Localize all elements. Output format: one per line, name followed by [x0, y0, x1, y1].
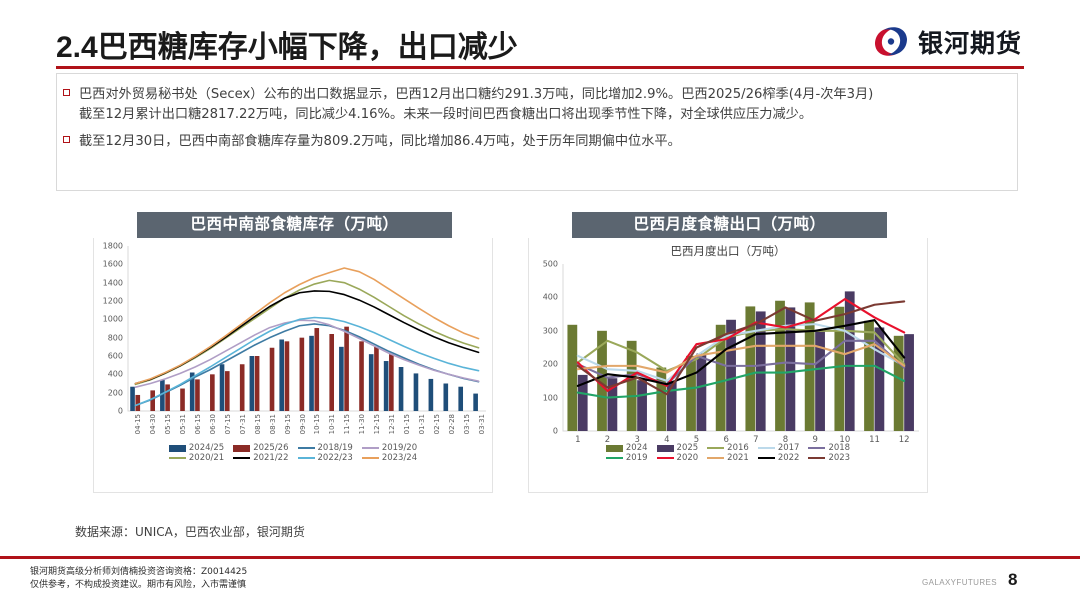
header-divider [56, 66, 1024, 69]
right-chart-legend: 2024202520162017201820192020202120222023 [529, 443, 927, 463]
bar-2025/26 [255, 356, 260, 411]
legend-item-2024[interactable]: 2024 [606, 443, 648, 453]
legend-label: 2020/21 [189, 453, 224, 463]
y-axis-tick-label: 1800 [94, 242, 123, 251]
footer-divider [0, 556, 1080, 559]
bar-2025/26 [344, 327, 349, 411]
legend-label: 2019/20 [382, 443, 417, 453]
legend-item-2020-21[interactable]: 2020/21 [169, 453, 224, 463]
bar-2024 [864, 321, 874, 431]
x-axis-tick-label: 07-15 [224, 414, 232, 434]
bullet-item: 巴西对外贸易秘书处（Secex）公布的出口数据显示，巴西12月出口糖约291.3… [57, 85, 1017, 125]
legend-swatch [758, 457, 775, 460]
bar-2024/25 [250, 356, 255, 411]
y-axis-tick-label: 100 [529, 393, 558, 402]
legend-swatch [233, 445, 250, 452]
bar-2025/26 [359, 341, 364, 411]
legend-swatch [808, 447, 825, 450]
legend-label: 2023 [828, 453, 850, 463]
left-chart-caption: 巴西中南部食糖库存（万吨） [137, 212, 452, 238]
bar-2024 [627, 341, 637, 431]
legend-item-2022[interactable]: 2022 [758, 453, 800, 463]
y-axis-tick-label: 500 [529, 260, 558, 269]
bar-2025/26 [270, 348, 275, 411]
legend-label: 2024/25 [189, 443, 224, 453]
x-axis-tick-label: 03-15 [463, 414, 471, 434]
y-axis-tick-label: 400 [529, 293, 558, 302]
legend-swatch [298, 447, 315, 450]
legend-item-2024-25[interactable]: 2024/25 [169, 443, 224, 453]
y-axis-tick-label: 800 [94, 333, 123, 342]
square-bullet-icon [63, 136, 70, 143]
legend-label: 2019 [626, 453, 648, 463]
bar-2025/26 [389, 354, 394, 411]
legend-label: 2025 [677, 443, 699, 453]
legend-label: 2025/26 [253, 443, 288, 453]
legend-row: 2024/252025/262018/192019/20 [94, 443, 492, 453]
x-axis-tick-label: 10-15 [313, 414, 321, 434]
right-chart-area: 巴西月度出口（万吨） 01002003004005001234567891011… [528, 238, 928, 493]
summary-panel: 巴西对外贸易秘书处（Secex）公布的出口数据显示，巴西12月出口糖约291.3… [56, 73, 1018, 191]
legend-item-2018-19[interactable]: 2018/19 [298, 443, 353, 453]
bar-2025/26 [374, 347, 379, 411]
bullet-line: 巴西对外贸易秘书处（Secex）公布的出口数据显示，巴西12月出口糖约291.3… [79, 85, 1017, 105]
legend-swatch [233, 457, 250, 460]
legend-swatch [362, 457, 379, 460]
brand-logo: 银河期货 [872, 22, 1022, 62]
bar-2024/25 [339, 347, 344, 411]
bar-2025/26 [195, 379, 200, 411]
bar-2025/26 [329, 334, 334, 411]
legend-label: 2020 [677, 453, 699, 463]
line-2020/21 [135, 280, 478, 384]
bar-2024/25 [220, 364, 225, 411]
legend-swatch [606, 445, 623, 452]
legend-row: 20192020202120222023 [529, 453, 927, 463]
bar-2024/25 [414, 373, 419, 411]
brand-name: 银河期货 [918, 24, 1022, 60]
bar-2025/26 [150, 390, 155, 411]
x-axis-tick-label: 01-15 [403, 414, 411, 434]
bullet-line: 截至12月30日，巴西中南部食糖库存量为809.2万吨，同比增加86.4万吨，处… [79, 132, 1017, 152]
legend-swatch [606, 457, 623, 460]
bar-2024/25 [458, 387, 463, 411]
y-axis-tick-label: 200 [529, 360, 558, 369]
legend-swatch [707, 457, 724, 460]
footer-line-1: 银河期货高级分析师刘倩楠投资咨询资格：Z0014425 [30, 566, 247, 579]
legend-item-2023-24[interactable]: 2023/24 [362, 453, 417, 463]
legend-label: 2021 [727, 453, 749, 463]
legend-label: 2021/22 [253, 453, 288, 463]
y-axis-tick-label: 1000 [94, 315, 123, 324]
left-chart-block: 巴西中南部食糖库存（万吨） [137, 212, 452, 238]
legend-swatch [707, 447, 724, 450]
line-2021/22 [135, 291, 478, 384]
legend-swatch [657, 457, 674, 460]
x-axis-tick-label: 03-31 [478, 414, 486, 434]
bar-2024/25 [384, 361, 389, 411]
legend-swatch [657, 445, 674, 452]
footer-brand: GALAXYFUTURES [922, 578, 997, 587]
right-chart-plot: 0100200300400500123456789101112 [529, 256, 929, 453]
bar-2025/26 [240, 364, 245, 411]
bar-2024 [567, 325, 577, 431]
y-axis-tick-label: 400 [94, 370, 123, 379]
bar-2025/26 [314, 328, 319, 411]
x-axis-tick-label: 10-31 [328, 414, 336, 434]
legend-item-2025[interactable]: 2025 [657, 443, 699, 453]
page-title: 2.4巴西糖库存小幅下降，出口减少 [56, 22, 518, 66]
legend-label: 2024 [626, 443, 648, 453]
x-axis-tick-label: 08-31 [269, 414, 277, 434]
bar-2024/25 [369, 354, 374, 411]
bar-2025 [904, 334, 914, 431]
bar-2025/26 [285, 341, 290, 411]
y-axis-tick-label: 300 [529, 326, 558, 335]
legend-item-2016[interactable]: 2016 [707, 443, 749, 453]
right-chart-block: 巴西月度食糖出口（万吨） [572, 212, 887, 238]
left-chart-area: 02004006008001000120014001600180004-1504… [93, 238, 493, 493]
legend-row: 20242025201620172018 [529, 443, 927, 453]
x-axis-tick-label: 08-15 [254, 414, 262, 434]
x-axis-tick-label: 06-15 [194, 414, 202, 434]
legend-item-2021-22[interactable]: 2021/22 [233, 453, 288, 463]
x-axis-tick-label: 07-31 [239, 414, 247, 434]
legend-label: 2022 [778, 453, 800, 463]
legend-label: 2022/23 [318, 453, 353, 463]
y-axis-tick-label: 0 [94, 407, 123, 416]
legend-row: 2020/212021/222022/232023/24 [94, 453, 492, 463]
x-axis-tick-label: 05-15 [164, 414, 172, 434]
brazil-monthly-sugar-exports-svg [529, 256, 929, 453]
x-axis-tick-label: 11-15 [343, 414, 351, 434]
y-axis-tick-label: 200 [94, 388, 123, 397]
x-axis-tick-label: 04-15 [134, 414, 142, 434]
bar-2024 [686, 356, 696, 431]
bar-2025/26 [180, 389, 185, 411]
legend-item-2025-26[interactable]: 2025/26 [233, 443, 288, 453]
y-axis-tick-label: 600 [94, 352, 123, 361]
bullet-item: 截至12月30日，巴西中南部食糖库存量为809.2万吨，同比增加86.4万吨，处… [57, 132, 1017, 152]
right-chart-caption: 巴西月度食糖出口（万吨） [572, 212, 887, 238]
bar-2024 [775, 301, 785, 431]
legend-item-2019[interactable]: 2019 [606, 453, 648, 463]
legend-item-2019-20[interactable]: 2019/20 [362, 443, 417, 453]
x-axis-tick-label: 11-30 [358, 414, 366, 434]
data-source-note: 数据来源：UNICA，巴西农业部，银河期货 [75, 523, 305, 540]
slide-header: 2.4巴西糖库存小幅下降，出口减少 银河期货 [0, 0, 1080, 70]
bar-2024/25 [399, 367, 404, 411]
bar-2025/26 [210, 374, 215, 411]
page-number: 8 [1008, 570, 1017, 590]
legend-label: 2016 [727, 443, 749, 453]
y-axis-tick-label: 1200 [94, 297, 123, 306]
x-axis-tick-label: 06-30 [209, 414, 217, 434]
y-axis-tick-label: 1400 [94, 278, 123, 287]
x-axis-tick-label: 04-30 [149, 414, 157, 434]
x-axis-tick-label: 09-15 [284, 414, 292, 434]
line-2023/24 [135, 268, 478, 384]
x-axis-tick-label: 12-31 [388, 414, 396, 434]
bar-2025/26 [300, 338, 305, 411]
left-chart-plot: 02004006008001000120014001600180004-1504… [94, 238, 494, 453]
legend-item-2021[interactable]: 2021 [707, 453, 749, 463]
legend-swatch [298, 457, 315, 460]
bar-2024/25 [309, 336, 314, 411]
y-axis-tick-label: 1600 [94, 260, 123, 269]
square-bullet-icon [63, 89, 70, 96]
legend-item-2017[interactable]: 2017 [758, 443, 800, 453]
bullet-line: 截至12月累计出口糖2817.22万吨，同比减少4.16%。未来一段时间巴西食糖… [79, 105, 1017, 125]
bar-2025/26 [225, 371, 230, 411]
bar-2024/25 [279, 340, 284, 412]
legend-item-2020[interactable]: 2020 [657, 453, 699, 463]
bar-2024/25 [473, 394, 478, 411]
legend-swatch [169, 445, 186, 452]
legend-swatch [808, 457, 825, 460]
legend-swatch [169, 457, 186, 460]
line-2019/20 [135, 320, 478, 387]
y-axis-tick-label: 0 [529, 427, 558, 436]
x-axis-tick-label: 09-30 [299, 414, 307, 434]
bar-2024/25 [443, 384, 448, 412]
legend-label: 2018/19 [318, 443, 353, 453]
bar-2025/26 [165, 384, 170, 411]
line-2018/19 [135, 324, 478, 406]
x-axis-tick-label: 05-31 [179, 414, 187, 434]
legend-swatch [362, 447, 379, 450]
bar-2025/26 [135, 395, 140, 411]
footer-disclaimer: 银河期货高级分析师刘倩楠投资咨询资格：Z0014425 仅供参考，不构成投资建议… [30, 566, 247, 592]
legend-label: 2017 [778, 443, 800, 453]
x-axis-tick-label: 12-15 [373, 414, 381, 434]
legend-swatch [758, 447, 775, 450]
left-chart-legend: 2024/252025/262018/192019/202020/212021/… [94, 443, 492, 463]
bar-2024/25 [429, 379, 434, 411]
x-axis-tick-label: 02-15 [433, 414, 441, 434]
legend-item-2023[interactable]: 2023 [808, 453, 850, 463]
slide: 2.4巴西糖库存小幅下降，出口减少 银河期货 巴西对外贸易秘书处（Secex）公… [0, 0, 1080, 608]
legend-label: 2018 [828, 443, 850, 453]
bar-2025 [637, 380, 647, 431]
legend-item-2022-23[interactable]: 2022/23 [298, 453, 353, 463]
bar-2024/25 [130, 387, 135, 411]
x-axis-tick-label: 01-31 [418, 414, 426, 434]
galaxy-swoosh-icon [872, 26, 910, 58]
legend-label: 2023/24 [382, 453, 417, 463]
x-axis-tick-label: 02-28 [448, 414, 456, 434]
footer-line-2: 仅供参考，不构成投资建议。期市有风险，入市需谨慎 [30, 579, 247, 592]
legend-item-2018[interactable]: 2018 [808, 443, 850, 453]
